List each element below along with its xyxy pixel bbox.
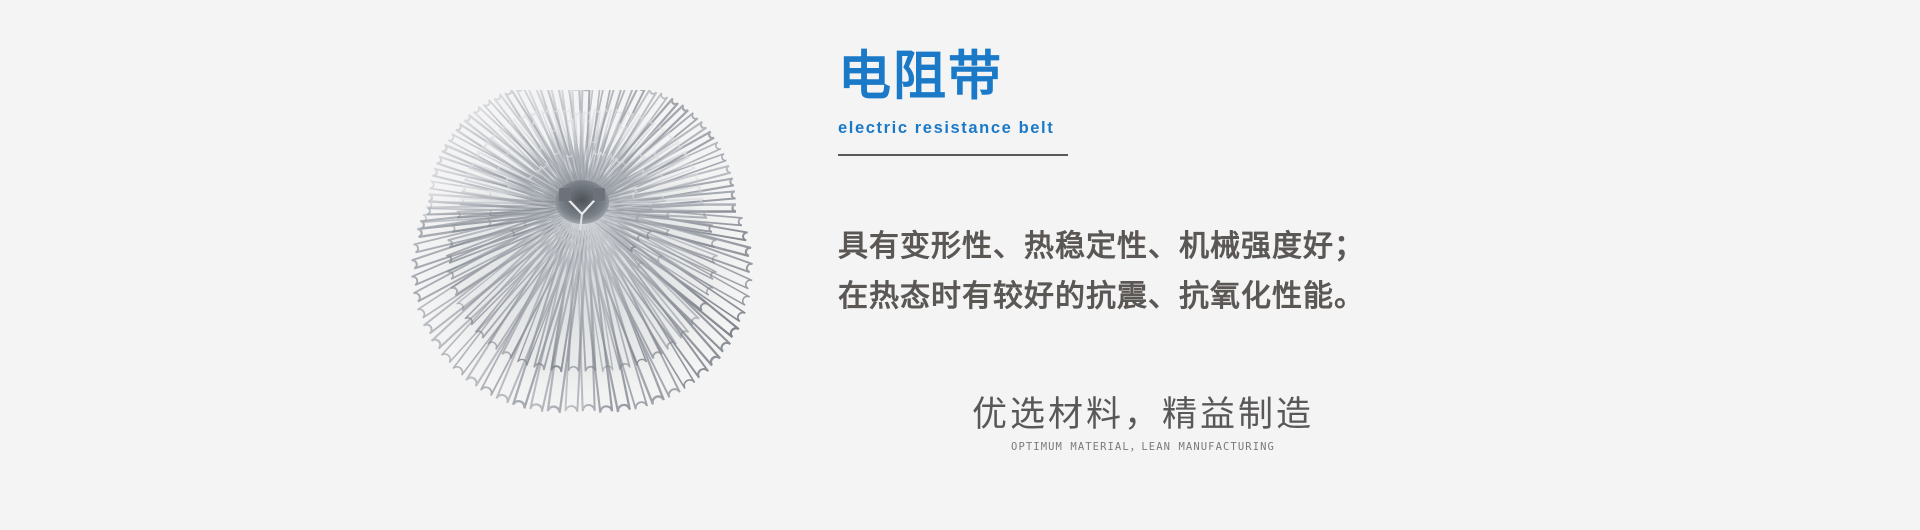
tagline-english: OPTIMUM MATERIAL，LEAN MANUFACTURING xyxy=(918,440,1368,454)
tagline-chinese: 优选材料，精益制造 xyxy=(918,392,1368,438)
tagline-block: 优选材料，精益制造 OPTIMUM MATERIAL，LEAN MANUFACT… xyxy=(918,392,1368,454)
banner-text-column: 电阻带 electric resistance belt 具有变形性、热稳定性、… xyxy=(838,0,1738,530)
page-title: 电阻带 xyxy=(838,46,1358,108)
product-image xyxy=(300,55,860,455)
resistance-belt-starburst-icon xyxy=(375,90,790,425)
description-line-2: 在热态时有较好的抗震、抗氧化性能。 xyxy=(838,272,1518,322)
description-block: 具有变形性、热稳定性、机械强度好； 在热态时有较好的抗震、抗氧化性能。 xyxy=(838,222,1518,322)
title-divider xyxy=(838,154,1068,156)
product-banner: 电阻带 electric resistance belt 具有变形性、热稳定性、… xyxy=(0,0,1920,530)
description-line-1: 具有变形性、热稳定性、机械强度好； xyxy=(838,222,1518,272)
page-subtitle: electric resistance belt xyxy=(838,118,1358,138)
title-block: 电阻带 electric resistance belt xyxy=(838,46,1358,156)
